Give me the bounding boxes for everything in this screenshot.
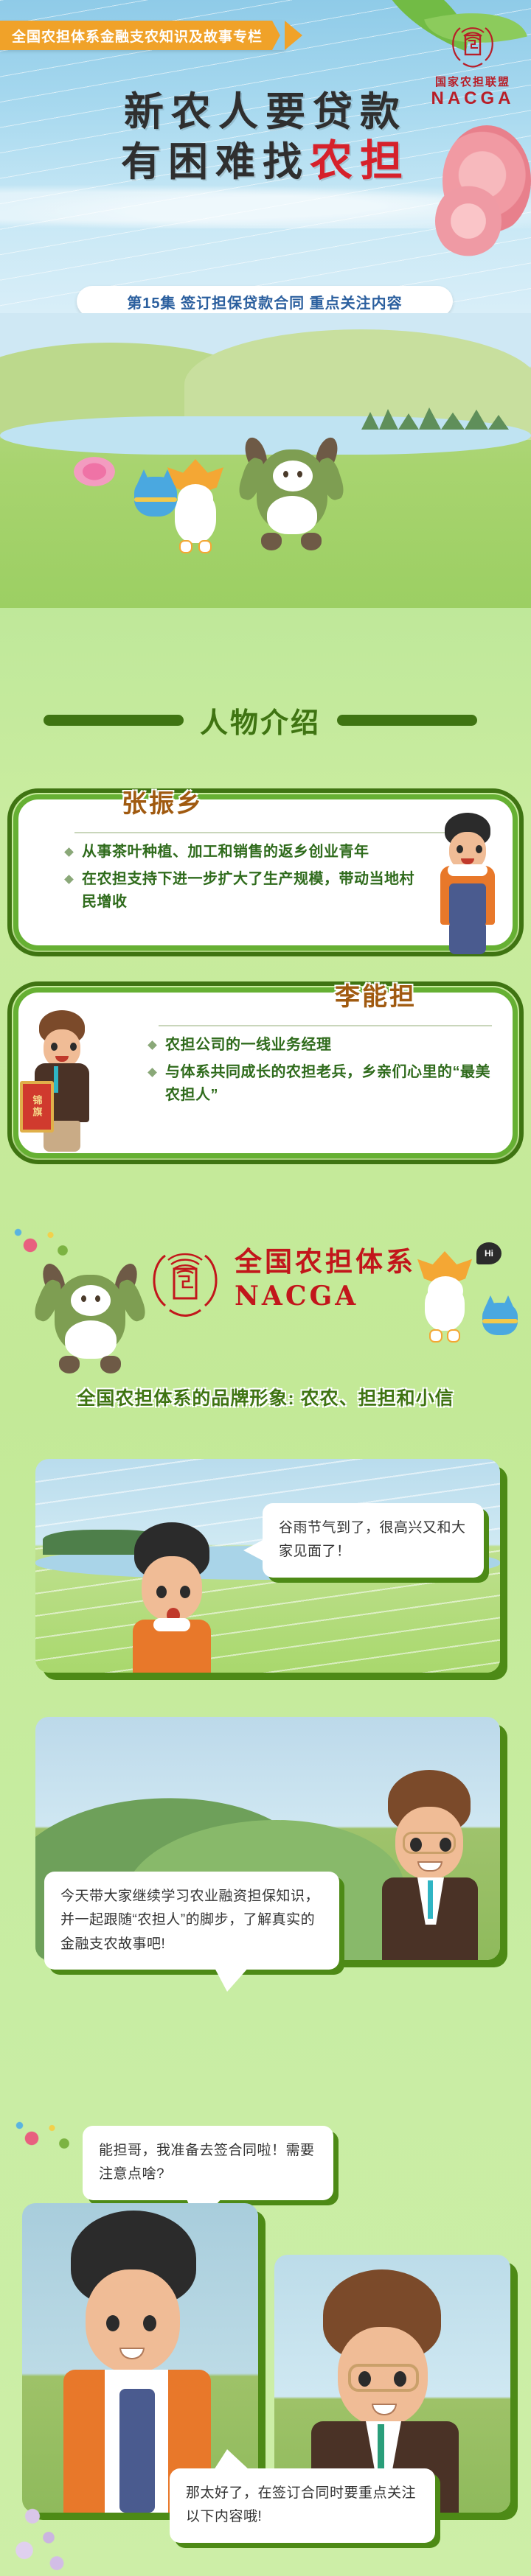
flower-cluster-left (6, 1214, 87, 1266)
mascot-xiaoxin (131, 469, 180, 521)
character-name: 张振乡 (122, 783, 204, 819)
bubble-tail (214, 1967, 249, 1992)
speech-bubble-text: 那太好了，在签订合同时要重点关注以下内容哦! (186, 2485, 416, 2524)
mascot-dandan-small (413, 1251, 476, 1345)
section-bar-left (44, 715, 184, 726)
bubble-tail (243, 1539, 265, 1562)
yak-foot-right (100, 1356, 121, 1373)
mascot-xiaoxin-small (479, 1295, 519, 1337)
eye-right-icon (180, 1586, 190, 1598)
avatar-lanyard (54, 1066, 58, 1093)
character-zhangzhenxiang (124, 1522, 220, 1673)
hi-speech-bubble: Hi (476, 1242, 502, 1264)
character-bullet-list: 农担公司的一线业务经理 与体系共同成长的农担老兵，乡亲们心里的“最美农担人” (147, 1034, 492, 1111)
nacga-badge-cn: 国家农担联盟 (425, 74, 521, 89)
yak-belly (267, 496, 317, 534)
eye-left-icon (156, 1586, 167, 1598)
overall (119, 2389, 155, 2513)
ribbon-notch-icon (272, 21, 285, 50)
speech-bubble-text: 谷雨节气到了，很高兴又和大家见面了！ (279, 1520, 466, 1559)
avatar-eye-right-icon (70, 1043, 77, 1051)
banner-flag: 锦旗 (20, 1081, 54, 1133)
brand-caption: 全国农担体系的品牌形象: 农农、担担和小信 (0, 1384, 531, 1410)
speech-bubble-1: 谷雨节气到了，很高兴又和大家见面了！ (263, 1503, 484, 1578)
xiaoxin-band (134, 497, 177, 502)
brand-name-cn: 全国农担体系 (235, 1239, 416, 1279)
character-zhangzhenxiang-2 (63, 2203, 218, 2513)
yak-eye-right-icon (95, 1295, 100, 1302)
nacga-emblem-icon (445, 18, 500, 72)
character-bullet-list: 从事茶叶种植、加工和销售的返乡创业青年 在农担支持下进一步扩大了生产规模，带动当… (64, 841, 417, 918)
section-bar-right (337, 715, 477, 726)
character-linengdan (375, 1770, 485, 1960)
dandan-leg-left (179, 540, 192, 553)
speech-bubble-3: 能担哥，我准备去签合同啦！需要注意点啥? (83, 2126, 333, 2200)
hero-title-line1: 新农人要贷款 (0, 88, 531, 136)
yak-eye-left-icon (283, 471, 288, 477)
card-divider (74, 832, 446, 833)
avatar: 锦旗 (21, 1010, 103, 1150)
avatar-overall (449, 883, 486, 926)
glasses-icon (403, 1832, 456, 1854)
eye-left-icon (106, 2315, 119, 2331)
dandan-face (428, 1276, 463, 1306)
character-card-zhangzhenxiang: 张振乡 从事茶叶种植、加工和销售的返乡创业青年 在农担支持下进一步扩大了生产规模… (13, 794, 518, 951)
avatar-towel (448, 864, 487, 876)
pink-flower (74, 457, 115, 486)
column-ribbon: 全国农担体系金融支农知识及故事专栏 (0, 21, 285, 50)
dandan-face (178, 484, 213, 514)
dandan-leg-right (198, 540, 212, 553)
speech-bubble-text: 今天带大家继续学习农业融资担保知识，并一起跟随“农担人”的脚步，了解真实的金融支… (60, 1889, 319, 1952)
episode-subtitle: 第15集 签订担保贷款合同 重点关注内容 (77, 286, 453, 313)
hero-title-line2-accent: 农担 (310, 136, 410, 186)
card-divider (159, 1025, 492, 1026)
list-item: 在农担支持下进一步扩大了生产规模，带动当地村民增收 (64, 868, 417, 914)
towel (153, 1618, 190, 1631)
speech-bubble-2: 今天带大家继续学习农业融资担保知识，并一起跟随“农担人”的脚步，了解真实的金融支… (44, 1872, 339, 1970)
flower-cluster-mid (7, 2107, 88, 2159)
avatar-eye-right-icon (476, 845, 482, 853)
hero-title-line2: 有困难找农担 (0, 136, 531, 186)
brand-block: 全国农担体系 NACGA Hi (0, 1208, 531, 1378)
brand-text: 全国农担体系 NACGA (235, 1239, 416, 1312)
list-item: 农担公司的一线业务经理 (147, 1034, 492, 1057)
bubble-tail (214, 2449, 249, 2470)
avatar-legs (449, 923, 486, 954)
yak-foot-left (59, 1356, 80, 1373)
episode-subtitle-label: 第15集 签订担保贷款合同 重点关注内容 (127, 291, 402, 312)
lanyard (428, 1880, 433, 1919)
peony-flower-2 (435, 184, 502, 258)
yak-face (71, 1285, 111, 1316)
brand-name-en: NACGA (235, 1281, 416, 1312)
dandan-leg-right (447, 1329, 460, 1343)
dandan-leg-left (429, 1329, 442, 1343)
speech-bubble-4: 那太好了，在签订合同时要重点关注以下内容哦! (170, 2468, 435, 2543)
hero-title: 新农人要贷款 有困难找农担 (0, 88, 531, 186)
xiaoxin-band (482, 1319, 518, 1323)
yak-belly (65, 1320, 117, 1359)
yak-eye-right-icon (297, 471, 302, 477)
section-header-characters: 人物介绍 (0, 700, 531, 741)
ribbon-label: 全国农担体系金融支农知识及故事专栏 (12, 26, 263, 46)
lanyard (378, 2424, 384, 2470)
avatar-eye-left-icon (457, 845, 463, 853)
glasses-icon (348, 2364, 419, 2392)
mascot-nongnong (243, 424, 339, 553)
list-item: 与体系共同成长的农担老兵，乡亲们心里的“最美农担人” (147, 1061, 492, 1107)
yak-foot-right (301, 533, 322, 550)
hero-title-line2-plain: 有困难找 (121, 138, 310, 185)
wisteria-decoration (0, 2491, 81, 2576)
character-card-linengdan: 李能担 农担公司的一线业务经理 与体系共同成长的农担老兵，乡亲们心里的“最美农担… (13, 987, 518, 1158)
eye-right-icon (143, 2315, 156, 2331)
hero-illustration (0, 313, 531, 608)
speech-bubble-text: 能担哥，我准备去签合同啦！需要注意点啥? (99, 2143, 315, 2182)
avatar (427, 813, 508, 953)
hero-banner: 全国农担体系金融支农知识及故事专栏 (0, 0, 531, 313)
nacga-emblem-icon (145, 1242, 226, 1323)
yak-face (273, 461, 313, 491)
character-name: 李能担 (335, 976, 417, 1012)
yak-eye-left-icon (81, 1295, 86, 1302)
poster-page: 全国农担体系金融支农知识及故事专栏 (0, 0, 531, 2576)
mascot-nongnong-large (38, 1253, 142, 1376)
avatar-eye-left-icon (51, 1043, 58, 1051)
list-item: 从事茶叶种植、加工和销售的返乡创业青年 (64, 841, 417, 864)
yak-foot-left (261, 533, 282, 550)
section-title: 人物介绍 (200, 700, 321, 741)
xiaoxin-body (134, 477, 177, 517)
